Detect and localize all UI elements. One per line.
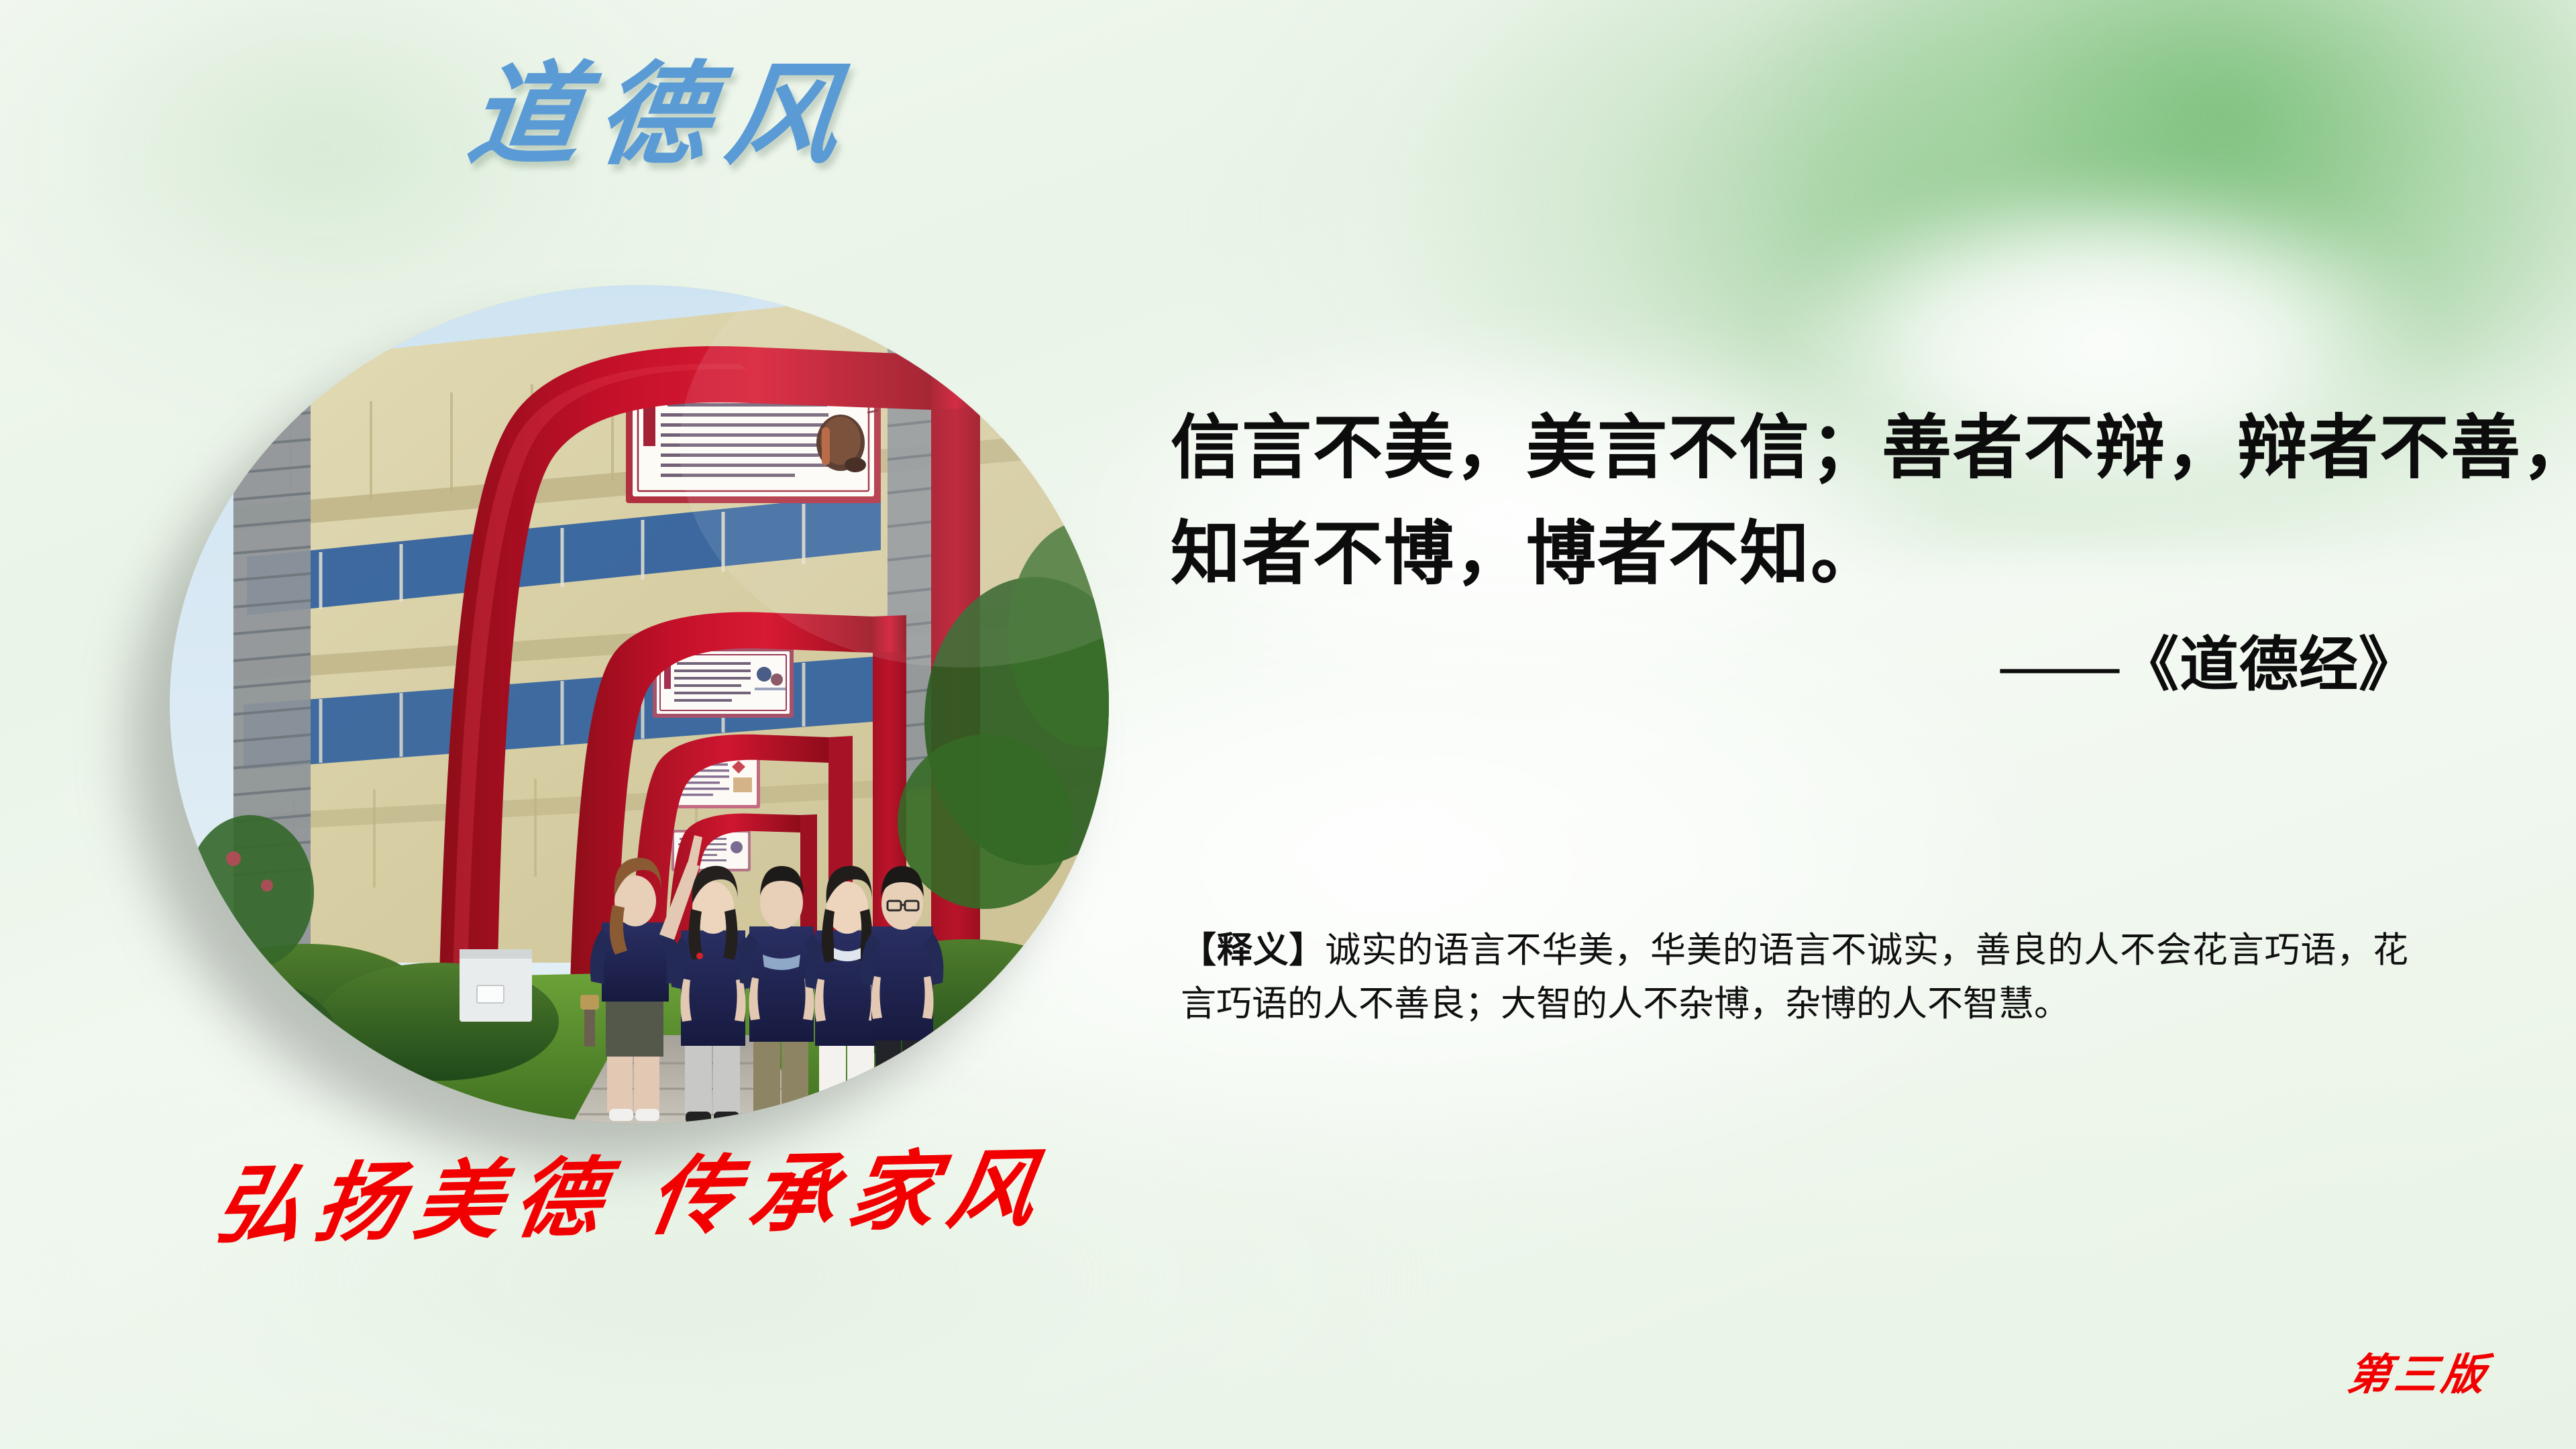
quote-line-1: 信言不美，美言不信；善者不辩，辩者不善， xyxy=(1171,396,2445,502)
newspaper-page: 道德风 xyxy=(0,0,2576,1449)
photo-container xyxy=(170,285,1109,1124)
explanation-block: 【释义】诚实的语言不华美，华美的语言不诚实，善良的人不会花言巧语，花言巧语的人不… xyxy=(1181,924,2408,1031)
photo-illustration xyxy=(170,285,1109,1124)
circular-photo xyxy=(170,285,1109,1124)
page-number-label: 第三版 xyxy=(2345,1354,2492,1397)
page-title: 道德风 xyxy=(463,60,863,172)
quote-block: 信言不美，美言不信；善者不辩，辩者不善， 知者不博，博者不知。 xyxy=(1171,396,2445,608)
slogan-text: 弘扬美德 传承家风 xyxy=(210,1146,1055,1250)
explanation-label: 【释义】 xyxy=(1181,931,1325,970)
explanation-text: 诚实的语言不华美，华美的语言不诚实，善良的人不会花言巧语，花言巧语的人不善良；大… xyxy=(1181,931,2408,1024)
quote-line-2: 知者不博，博者不知。 xyxy=(1171,502,2445,608)
quote-attribution: ——《道德经》 xyxy=(1171,631,2418,702)
